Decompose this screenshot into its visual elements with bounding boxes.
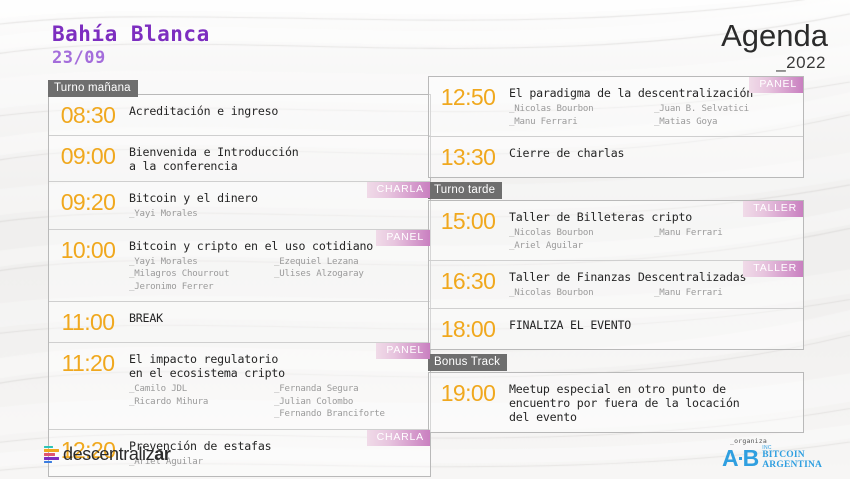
speaker-name: _Camilo JDL (129, 383, 274, 396)
session-type-badge: PANEL (376, 230, 430, 246)
descentralizar-suffix: ar (154, 444, 170, 464)
section-tab-wrap: Turno mañana (48, 76, 431, 94)
speaker-name: _Manu Ferrari (509, 116, 654, 129)
session-time: 15:00 (429, 201, 507, 241)
session-type-badge: CHARLA (367, 182, 430, 198)
session-type-badge: PANEL (376, 343, 430, 359)
schedule-column-right: PANEL12:50El paradigma de la descentrali… (428, 76, 804, 433)
city-title: Bahía Blanca (52, 22, 210, 46)
speaker-name: _Ricardo Mihura (129, 396, 274, 409)
section-tab-turno-mañana: Turno mañana (48, 80, 138, 97)
agenda-block: TALLER15:00Taller de Billeteras cripto_N… (428, 200, 804, 350)
speaker-list: _Nicolas Bourbon_Manu Ferrari_Ariel Agui… (509, 227, 795, 252)
poster-header: Bahía Blanca 23/09 Agenda _2022 (0, 0, 850, 76)
session-title: Bienvenida e Introducción a la conferenc… (129, 145, 422, 173)
session-body: BREAK (127, 302, 430, 333)
speaker-name: _Ezequiel Lezana (274, 256, 422, 269)
section-tab-wrap: Turno tarde (428, 178, 804, 196)
session-time: 18:00 (429, 309, 507, 349)
session-body: Acreditación e ingreso (127, 95, 430, 126)
session-time: 11:20 (49, 343, 127, 383)
speaker-name: _Nicolas Bourbon (509, 227, 654, 240)
speaker-name: _Manu Ferrari (654, 227, 795, 240)
schedule-column-left: Turno mañana08:30Acreditación e ingreso0… (48, 76, 431, 477)
session-title: Cierre de charlas (509, 146, 795, 160)
descentralizar-prefix: descentraliz (63, 444, 154, 464)
speaker-name: _Fernanda Segura (274, 383, 422, 396)
ab-letter-b: B (743, 447, 759, 470)
agenda-row[interactable]: 13:30Cierre de charlas (429, 137, 803, 177)
agenda-poster: Bahía Blanca 23/09 Agenda _2022 Turno ma… (0, 0, 850, 479)
section-tab-wrap: Bonus Track (428, 350, 804, 368)
bitcoin-argentina-wordmark: INC BITCOIN ARGENTINA (762, 446, 822, 471)
session-time: 19:00 (429, 373, 507, 413)
session-time: 08:30 (49, 95, 127, 135)
agenda-row[interactable]: 09:00Bienvenida e Introducción a la conf… (49, 136, 430, 182)
speaker-list: _Nicolas Bourbon_Manu Ferrari (509, 287, 795, 300)
agenda-row[interactable]: PANEL11:20El impacto regulatorio en el e… (49, 343, 430, 430)
session-body: Cierre de charlas (507, 137, 803, 168)
descentralizar-wordmark: descentralizar (63, 444, 170, 465)
speaker-name: _Matias Goya (654, 116, 795, 129)
speaker-list: _Nicolas Bourbon_Juan B. Selvatici_Manu … (509, 103, 795, 128)
agenda-row[interactable]: PANEL10:00Bitcoin y cripto en el uso cot… (49, 230, 430, 303)
session-time: 11:00 (49, 302, 127, 342)
bitcoin-argentina-logo[interactable]: _organiza A B INC BITCOIN ARGENTINA (708, 437, 828, 471)
speaker-name: _Ariel Aguilar (509, 240, 654, 253)
speaker-name: _Juan B. Selvatici (654, 103, 795, 116)
section-tab-turno-tarde: Turno tarde (428, 182, 502, 199)
agenda-year: _2022 (776, 53, 826, 73)
ab-letter-a: A (722, 447, 738, 470)
section-tab-bonus-track: Bonus Track (428, 354, 507, 371)
agenda-block: 19:00Meetup especial en otro punto de en… (428, 372, 804, 433)
session-time: 10:00 (49, 230, 127, 270)
organiza-label: _organiza (730, 437, 828, 445)
session-time: 12:50 (429, 77, 507, 117)
speaker-name: _Ulises Alzogaray (274, 268, 422, 281)
speaker-name: _Nicolas Bourbon (509, 287, 654, 300)
agenda-block: PANEL12:50El paradigma de la descentrali… (428, 76, 804, 178)
speaker-spacer (129, 408, 274, 421)
session-type-badge: CHARLA (367, 430, 430, 446)
speaker-name: _Manu Ferrari (654, 287, 795, 300)
session-time: 13:30 (429, 137, 507, 177)
speaker-list: _Yayi Morales_Ezequiel Lezana_Milagros C… (129, 256, 422, 294)
agenda-row[interactable]: 18:00FINALIZA EL EVENTO (429, 309, 803, 349)
session-body: Meetup especial en otro punto de encuent… (507, 373, 803, 432)
speaker-list: _Camilo JDL_Fernanda Segura_Ricardo Mihu… (129, 383, 422, 421)
ab-separator-dot (739, 457, 742, 460)
session-title: Acreditación e ingreso (129, 104, 422, 118)
session-type-badge: TALLER (743, 261, 803, 277)
speaker-list: _Yayi Morales (129, 208, 422, 221)
speaker-name: _Julian Colombo (274, 396, 422, 409)
ab-monogram-icon: A B (722, 447, 758, 470)
speaker-name: _Jeronimo Ferrer (129, 281, 274, 294)
agenda-heading: Agenda (721, 20, 828, 51)
agenda-row[interactable]: 11:00BREAK (49, 302, 430, 343)
agenda-row[interactable]: 08:30Acreditación e ingreso (49, 95, 430, 136)
session-type-badge: TALLER (743, 201, 803, 217)
session-type-badge: PANEL (749, 77, 803, 93)
session-body: FINALIZA EL EVENTO (507, 309, 803, 340)
session-time: 09:00 (49, 136, 127, 176)
agenda-row[interactable]: CHARLA09:20Bitcoin y el dinero_Yayi Mora… (49, 182, 430, 230)
session-time: 16:30 (429, 261, 507, 301)
ab-argentina-label: ARGENTINA (762, 461, 822, 471)
event-date: 23/09 (52, 48, 106, 68)
speaker-name: _Milagros Chourrout (129, 268, 274, 281)
session-title: Meetup especial en otro punto de encuent… (509, 382, 795, 424)
speaker-name: _Yayi Morales (129, 256, 274, 269)
session-title: BREAK (129, 311, 422, 325)
agenda-row[interactable]: 19:00Meetup especial en otro punto de en… (429, 373, 803, 432)
speaker-name: _Yayi Morales (129, 208, 274, 221)
session-time: 09:20 (49, 182, 127, 222)
descentralizar-bars-icon (44, 446, 59, 464)
descentralizar-logo[interactable]: descentralizar (44, 444, 170, 465)
agenda-block: 08:30Acreditación e ingreso09:00Bienveni… (48, 94, 431, 477)
speaker-name: _Fernando Branciforte (274, 408, 422, 421)
speaker-name: _Nicolas Bourbon (509, 103, 654, 116)
session-body: Bienvenida e Introducción a la conferenc… (127, 136, 430, 181)
agenda-row[interactable]: PANEL12:50El paradigma de la descentrali… (429, 77, 803, 137)
agenda-row[interactable]: TALLER15:00Taller de Billeteras cripto_N… (429, 201, 803, 261)
session-title: FINALIZA EL EVENTO (509, 318, 795, 332)
agenda-row[interactable]: TALLER16:30Taller de Finanzas Descentral… (429, 261, 803, 309)
